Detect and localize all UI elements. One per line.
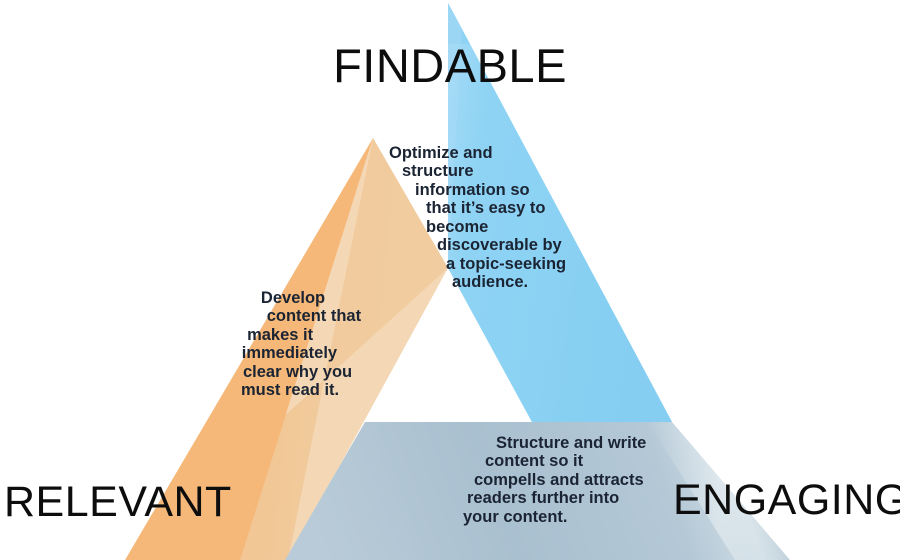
copy-line: must read it. [241, 381, 361, 399]
copy-line: content so it [463, 452, 646, 470]
copy-line: become [389, 218, 566, 236]
diagram-canvas: FINDABLE RELEVANT ENGAGING Optimize and … [0, 0, 900, 560]
copy-line: structure [389, 162, 566, 180]
copy-line: your content. [463, 508, 646, 526]
copy-line: makes it [241, 326, 361, 344]
copy-line: Develop [241, 289, 361, 307]
copy-line: compells and attracts [463, 471, 646, 489]
copy-line: Optimize and [389, 144, 566, 162]
copy-line: that it’s easy to [389, 199, 566, 217]
copy-line: a topic-seeking [389, 255, 566, 273]
corner-label-relevant: RELEVANT [4, 481, 232, 524]
body-copy-relevant: Develop content that makes it immediatel… [241, 289, 361, 400]
copy-line: discoverable by [389, 236, 566, 254]
copy-line: clear why you [241, 363, 361, 381]
corner-label-findable: FINDABLE [0, 42, 900, 89]
corner-label-engaging: ENGAGING [673, 479, 900, 522]
copy-line: content that [241, 307, 361, 325]
body-copy-engaging: Structure and write content so it compel… [463, 434, 646, 526]
body-copy-findable: Optimize and structure information so th… [389, 144, 566, 292]
copy-line: readers further into [463, 489, 646, 507]
copy-line: Structure and write [463, 434, 646, 452]
copy-line: audience. [389, 273, 566, 291]
copy-line: information so [389, 181, 566, 199]
copy-line: immediately [241, 344, 361, 362]
